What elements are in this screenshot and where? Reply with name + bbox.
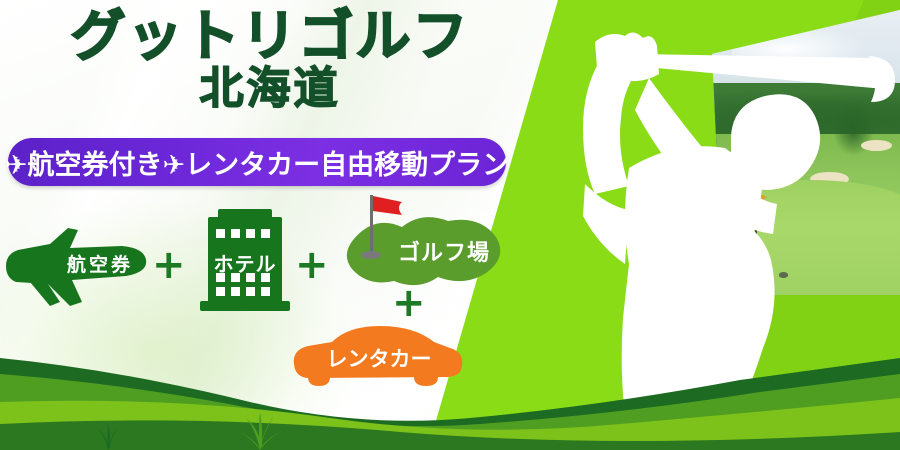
airplane-ticket-label: 航空券: [50, 250, 150, 277]
photo-pin-pole: [755, 192, 756, 272]
plus-operator-2: +: [295, 245, 329, 285]
grass-tuft-icon: [230, 404, 290, 450]
hotel-icon: ホテル: [196, 205, 294, 313]
airplane-ticket-icon: 航空券: [6, 222, 156, 310]
rental-car-icon: レンタカー: [288, 320, 466, 390]
page-subtitle: 北海道: [0, 65, 540, 113]
golf-course-label: ゴルフ場: [378, 235, 510, 267]
photo-tree-right: [830, 103, 877, 160]
promo-banner: グットリゴルフ 北海道 ✈航空券付き✈レンタカー自由移動プラン 航空券 +: [0, 0, 900, 450]
plus-operator-1: +: [152, 245, 186, 285]
rental-car-label: レンタカー: [306, 343, 452, 373]
grass-tuft-secondary-icon: [85, 420, 131, 450]
plus-operator-3: +: [392, 283, 426, 323]
photo-hole: [779, 272, 789, 278]
golf-course-photo: [712, 8, 900, 295]
page-title: グットリゴルフ: [0, 8, 540, 66]
photo-putting-green: [712, 180, 900, 295]
plan-badge: ✈航空券付き✈レンタカー自由移動プラン: [8, 138, 506, 186]
hotel-label: ホテル: [196, 248, 294, 277]
badge-text: ✈航空券付き✈レンタカー自由移動プラン: [5, 143, 509, 182]
photo-tree-mid: [755, 111, 806, 174]
